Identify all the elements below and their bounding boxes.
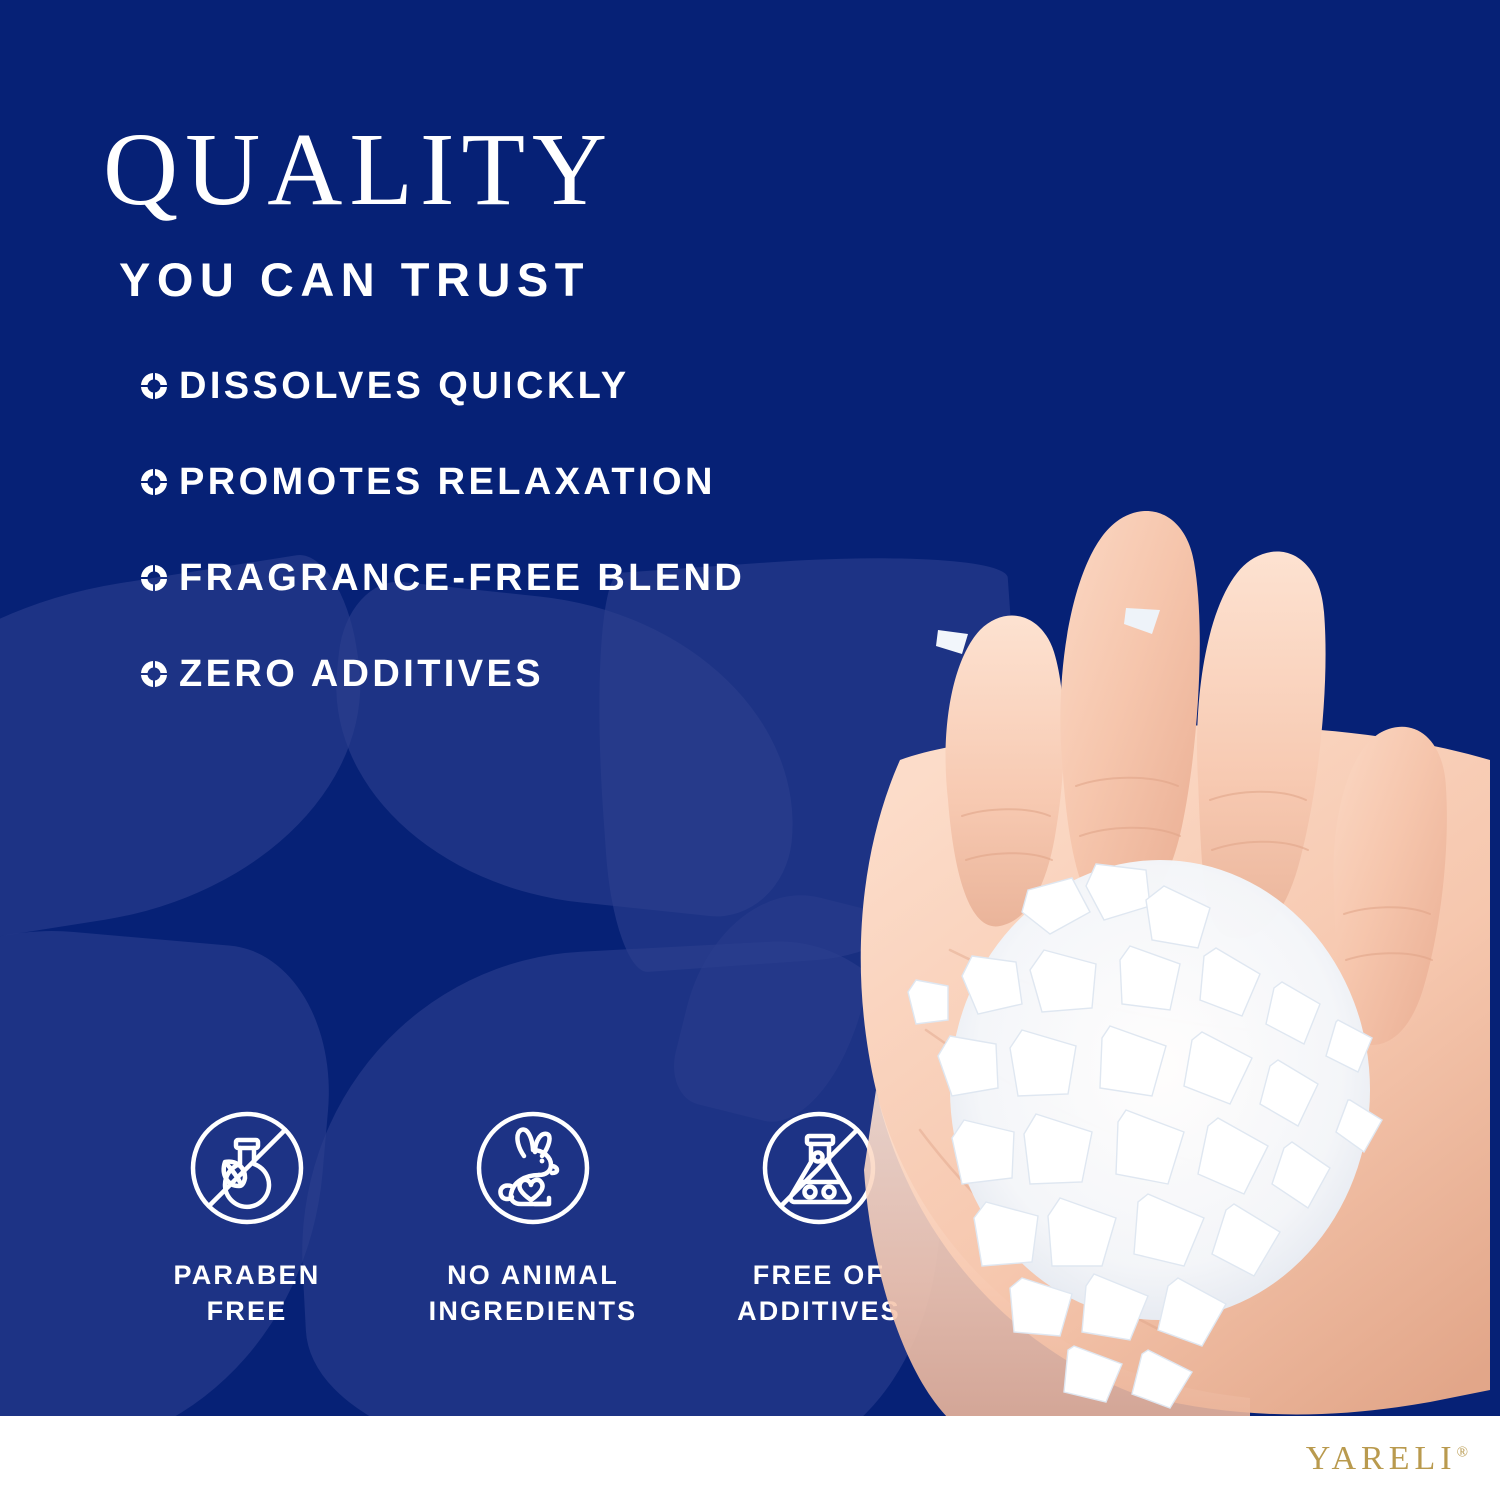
badge-label: PARABEN FREE <box>104 1258 390 1330</box>
feature-item-dissolves-quickly: DISSOLVES QUICKLY <box>137 363 745 409</box>
feature-list: DISSOLVES QUICKLY PROMOTES RELAXATION <box>137 363 745 747</box>
feature-label: FRAGRANCE-FREE BLEND <box>179 557 745 600</box>
badge-paraben-free: PARABEN FREE <box>104 1104 390 1330</box>
feature-label: ZERO ADDITIVES <box>179 653 544 696</box>
double-chevron-bullet-icon <box>137 369 171 403</box>
feature-item-promotes-relaxation: PROMOTES RELAXATION <box>137 459 745 505</box>
product-infographic: QUALITY YOU CAN TRUST DISSOLVES QUICKLY <box>0 0 1500 1500</box>
page-title: QUALITY <box>103 118 614 222</box>
product-photo-hand-with-salt-flakes <box>830 330 1500 1416</box>
headline-block: QUALITY YOU CAN TRUST <box>103 118 614 307</box>
badge-no-animal-ingredients: NO ANIMAL INGREDIENTS <box>390 1104 676 1330</box>
double-chevron-bullet-icon <box>137 465 171 499</box>
brand-logo: YARELI® <box>1306 1440 1468 1478</box>
page-subtitle: YOU CAN TRUST <box>119 252 614 307</box>
footer-bar: YARELI® <box>0 1416 1500 1500</box>
registered-trademark-symbol: ® <box>1457 1445 1468 1461</box>
badge-label: NO ANIMAL INGREDIENTS <box>390 1258 676 1330</box>
no-paraben-flask-leaf-icon <box>183 1104 311 1232</box>
feature-label: PROMOTES RELAXATION <box>179 461 716 504</box>
blue-background-panel: QUALITY YOU CAN TRUST DISSOLVES QUICKLY <box>0 0 1500 1416</box>
cruelty-free-rabbit-heart-icon <box>469 1104 597 1232</box>
double-chevron-bullet-icon <box>137 561 171 595</box>
double-chevron-bullet-icon <box>137 657 171 691</box>
feature-item-fragrance-free-blend: FRAGRANCE-FREE BLEND <box>137 555 745 601</box>
feature-item-zero-additives: ZERO ADDITIVES <box>137 651 745 697</box>
feature-label: DISSOLVES QUICKLY <box>179 365 630 408</box>
brand-name: YARELI <box>1306 1440 1457 1477</box>
